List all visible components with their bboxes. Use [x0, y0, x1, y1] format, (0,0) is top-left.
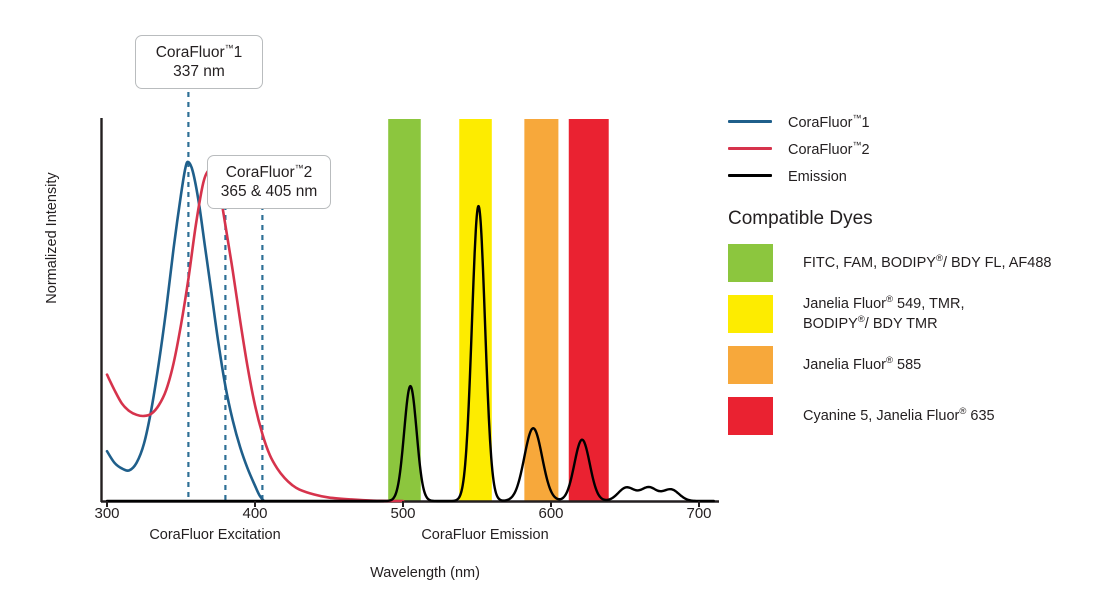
series-legend-list: CoraFluor™1CoraFluor™2Emission	[728, 108, 1098, 189]
legend-series-label: CoraFluor™2	[788, 140, 870, 158]
legend-series-row-1: CoraFluor™1	[728, 108, 1098, 135]
curve-excitation-2	[107, 169, 403, 501]
x-tick-label-300: 300	[77, 505, 137, 522]
compatible-dyes-title: Compatible Dyes	[728, 208, 1098, 230]
dye-color-swatch	[728, 397, 773, 435]
dye-label-line: FITC, FAM, BODIPY®/ BDY FL, AF488	[803, 253, 1051, 273]
x-tick-label-600: 600	[521, 505, 581, 522]
registered-icon: ®	[886, 355, 893, 366]
dye-row-4: Cyanine 5, Janelia Fluor® 635	[728, 391, 1098, 441]
dye-label: Janelia Fluor® 549, TMR,BODIPY®/ BDY TMR	[803, 294, 964, 335]
section-label-emission: CoraFluor Emission	[390, 527, 580, 543]
trademark-icon: ™	[295, 163, 304, 173]
dye-label-line: BODIPY®/ BDY TMR	[803, 314, 964, 334]
dye-label: FITC, FAM, BODIPY®/ BDY FL, AF488	[803, 253, 1051, 273]
legend-line-swatch	[728, 147, 772, 150]
curve-excitation-1	[107, 162, 264, 501]
x-tick-label-500: 500	[373, 505, 433, 522]
legend-panel: CoraFluor™1CoraFluor™2Emission Compatibl…	[728, 108, 1098, 442]
callout-1-line1: CoraFluor™1	[146, 43, 252, 63]
registered-icon: ®	[886, 294, 893, 305]
callout-2-line1: CoraFluor™2	[218, 163, 320, 183]
dye-row-1: FITC, FAM, BODIPY®/ BDY FL, AF488	[728, 238, 1098, 288]
dye-row-3: Janelia Fluor® 585	[728, 340, 1098, 390]
dye-label: Cyanine 5, Janelia Fluor® 635	[803, 406, 995, 426]
orange-band	[524, 119, 558, 501]
legend-line-swatch	[728, 174, 772, 177]
callout-corafluor-2: CoraFluor™2 365 & 405 nm	[207, 155, 331, 209]
green-band	[388, 119, 421, 501]
legend-line-swatch	[728, 120, 772, 123]
registered-icon: ®	[936, 253, 943, 264]
callout-corafluor-1: CoraFluor™1 337 nm	[135, 35, 263, 89]
dye-color-swatch	[728, 295, 773, 333]
dye-label-line: Cyanine 5, Janelia Fluor® 635	[803, 406, 995, 426]
legend-series-label: CoraFluor™1	[788, 113, 870, 131]
callout-2-line2: 365 & 405 nm	[218, 183, 320, 202]
trademark-icon: ™	[225, 43, 234, 53]
dye-color-swatch	[728, 244, 773, 282]
wavelength-bands	[388, 119, 609, 501]
legend-series-row-2: CoraFluor™2	[728, 135, 1098, 162]
x-axis-label: Wavelength (nm)	[300, 565, 550, 581]
marker-dashed-lines	[188, 92, 262, 501]
x-tick-label-700: 700	[669, 505, 729, 522]
legend-series-label: Emission	[788, 167, 847, 185]
legend-series-row-3: Emission	[728, 162, 1098, 189]
y-axis-label: Normalized Intensity	[44, 153, 60, 323]
spectra-figure: CoraFluor™1 337 nm CoraFluor™2 365 & 405…	[0, 0, 1110, 612]
x-tick-label-400: 400	[225, 505, 285, 522]
dye-row-2: Janelia Fluor® 549, TMR,BODIPY®/ BDY TMR	[728, 289, 1098, 339]
dye-label: Janelia Fluor® 585	[803, 355, 921, 375]
callout-1-line2: 337 nm	[146, 63, 252, 82]
registered-icon: ®	[858, 314, 865, 325]
red-band	[569, 119, 609, 501]
compatible-dyes-list: FITC, FAM, BODIPY®/ BDY FL, AF488Janelia…	[728, 238, 1098, 441]
dye-label-line: Janelia Fluor® 549, TMR,	[803, 294, 964, 314]
section-label-excitation: CoraFluor Excitation	[120, 527, 310, 543]
yellow-band	[459, 119, 492, 501]
dye-color-swatch	[728, 346, 773, 384]
dye-label-line: Janelia Fluor® 585	[803, 355, 921, 375]
